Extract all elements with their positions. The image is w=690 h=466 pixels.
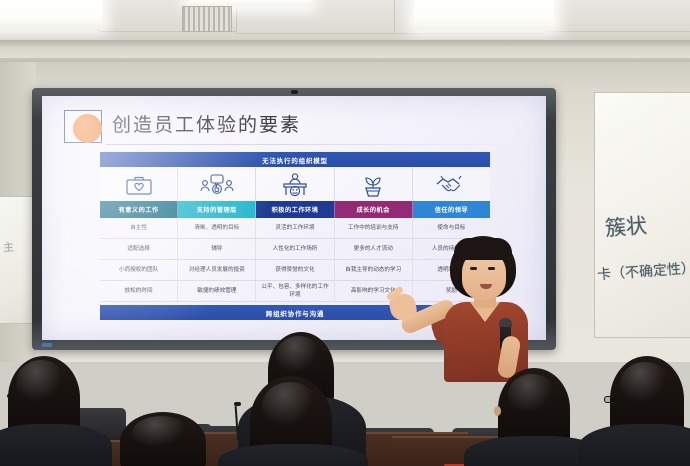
microphone-head — [499, 318, 512, 327]
matrix-cell: 人性化的工作场所 — [256, 239, 334, 259]
matrix-cell: 适配选择 — [100, 239, 178, 259]
head-highlight — [262, 382, 318, 430]
icon-cell-meaningful-work — [100, 168, 178, 201]
matrix-cell: 小而授权的团队 — [100, 260, 178, 280]
matrix-cell: 使命与目标 — [413, 218, 490, 238]
matrix-cell: 对经理人员发展的投资 — [178, 260, 256, 280]
desk-person-icon — [279, 172, 311, 198]
head-highlight — [132, 416, 190, 450]
head-highlight — [508, 374, 556, 416]
whiteboard-left-note: 主 — [2, 239, 14, 256]
matrix-cell: 辅导 — [178, 239, 256, 259]
matrix-cell: 清晰、透明的目标 — [178, 218, 256, 238]
matrix-column-header: 积极的工作环境 — [256, 201, 334, 218]
air-vent-icon — [182, 6, 232, 32]
slide-logo-frame — [64, 110, 102, 143]
handshake-icon — [434, 173, 468, 197]
matrix-cell: 获得赞誉的文化 — [256, 260, 334, 280]
icon-cell-supportive-management — [178, 168, 256, 201]
classroom-scene: 主 簇状 卡（不确定性） SEEWO 创造员工体验的要素 无法执行的组织模型 — [0, 0, 690, 466]
ceiling-light — [0, 0, 102, 28]
display-camera-icon — [291, 90, 298, 94]
presenter — [388, 236, 568, 381]
audience-ear — [494, 406, 501, 416]
matrix-icon-row — [100, 168, 490, 201]
matrix-cell: 自主性 — [100, 218, 178, 238]
ceiling-light — [414, 0, 554, 30]
whiteboard-text-line1: 簇状 — [604, 210, 648, 243]
matrix-top-banner: 无法执行的组织模型 — [100, 152, 490, 167]
presenter-eye — [470, 267, 477, 270]
title-divider — [106, 144, 526, 145]
head-highlight — [276, 336, 322, 376]
potted-plant-icon — [358, 172, 388, 198]
orange-circle-logo-icon — [73, 114, 102, 143]
audience-glasses — [604, 396, 618, 403]
matrix-column-header: 成长的机会 — [335, 201, 413, 218]
matrix-cell: 放松的时间 — [100, 281, 178, 301]
matrix-cell: 灵活的工作环境 — [256, 218, 334, 238]
whiteboard-right: 簇状 卡（不确定性） — [594, 92, 690, 338]
icon-cell-growth-opportunity — [335, 168, 413, 201]
icon-cell-positive-environment — [256, 168, 334, 201]
head-highlight — [16, 360, 66, 406]
matrix-cell: 敏捷的绩效管理 — [178, 281, 256, 301]
briefcase-heart-icon — [124, 173, 154, 197]
microphone-head-icon — [234, 402, 241, 406]
whiteboard-text-line2: 卡（不确定性） — [596, 258, 690, 285]
matrix-cell: 公平、包容、多样化的工作环境 — [256, 281, 334, 301]
head-highlight — [620, 362, 670, 406]
matrix-column-header: 有意义的工作 — [100, 201, 178, 218]
presenter-eye — [488, 267, 495, 270]
matrix-cell: 工作中的培训与支持 — [335, 218, 413, 238]
display-power-led — [42, 343, 52, 347]
audience-shoulders — [0, 424, 112, 466]
matrix-column-header: 信任的领导 — [413, 201, 490, 218]
audience-shoulders — [578, 424, 690, 466]
matrix-column-header: 支持的管理层 — [178, 201, 256, 218]
presenter-fringe — [454, 238, 512, 260]
audience-shoulders — [218, 444, 368, 466]
matrix-header-row: 有意义的工作 支持的管理层 积极的工作环境 成长的机会 信任的领导 — [100, 201, 490, 218]
people-feedback-icon — [199, 173, 235, 197]
slide-title: 创造员工体验的要素 — [112, 110, 301, 137]
icon-cell-trusted-leadership — [413, 168, 490, 201]
